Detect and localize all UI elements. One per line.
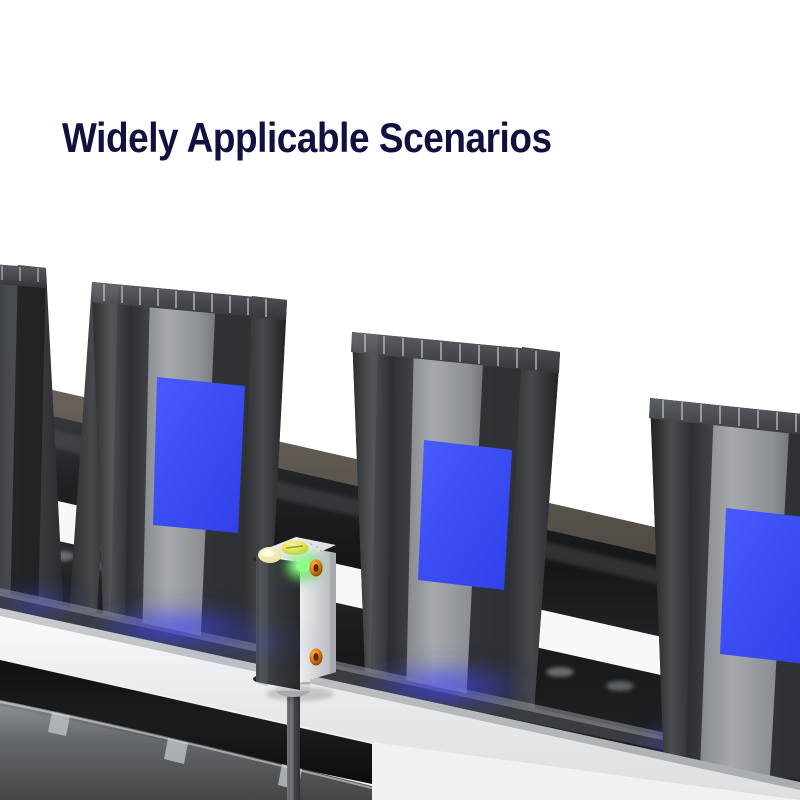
led-yellow xyxy=(258,547,282,563)
mounting-hole-top xyxy=(310,560,323,577)
list-item[interactable] xyxy=(351,332,560,712)
beam-spill xyxy=(180,626,320,658)
scene-canvas: Widely Applicable Scenarios xyxy=(0,0,800,800)
mounting-hole-bottom xyxy=(310,649,323,666)
pouch-third xyxy=(351,332,560,712)
page-title: Widely Applicable Scenarios xyxy=(62,112,552,164)
list-item[interactable] xyxy=(649,398,800,782)
pouch-label xyxy=(720,508,800,664)
pouch-label xyxy=(153,377,245,533)
pouch-label xyxy=(418,440,512,590)
pouch-right-partial xyxy=(649,398,800,782)
sensor-cable xyxy=(287,690,300,800)
